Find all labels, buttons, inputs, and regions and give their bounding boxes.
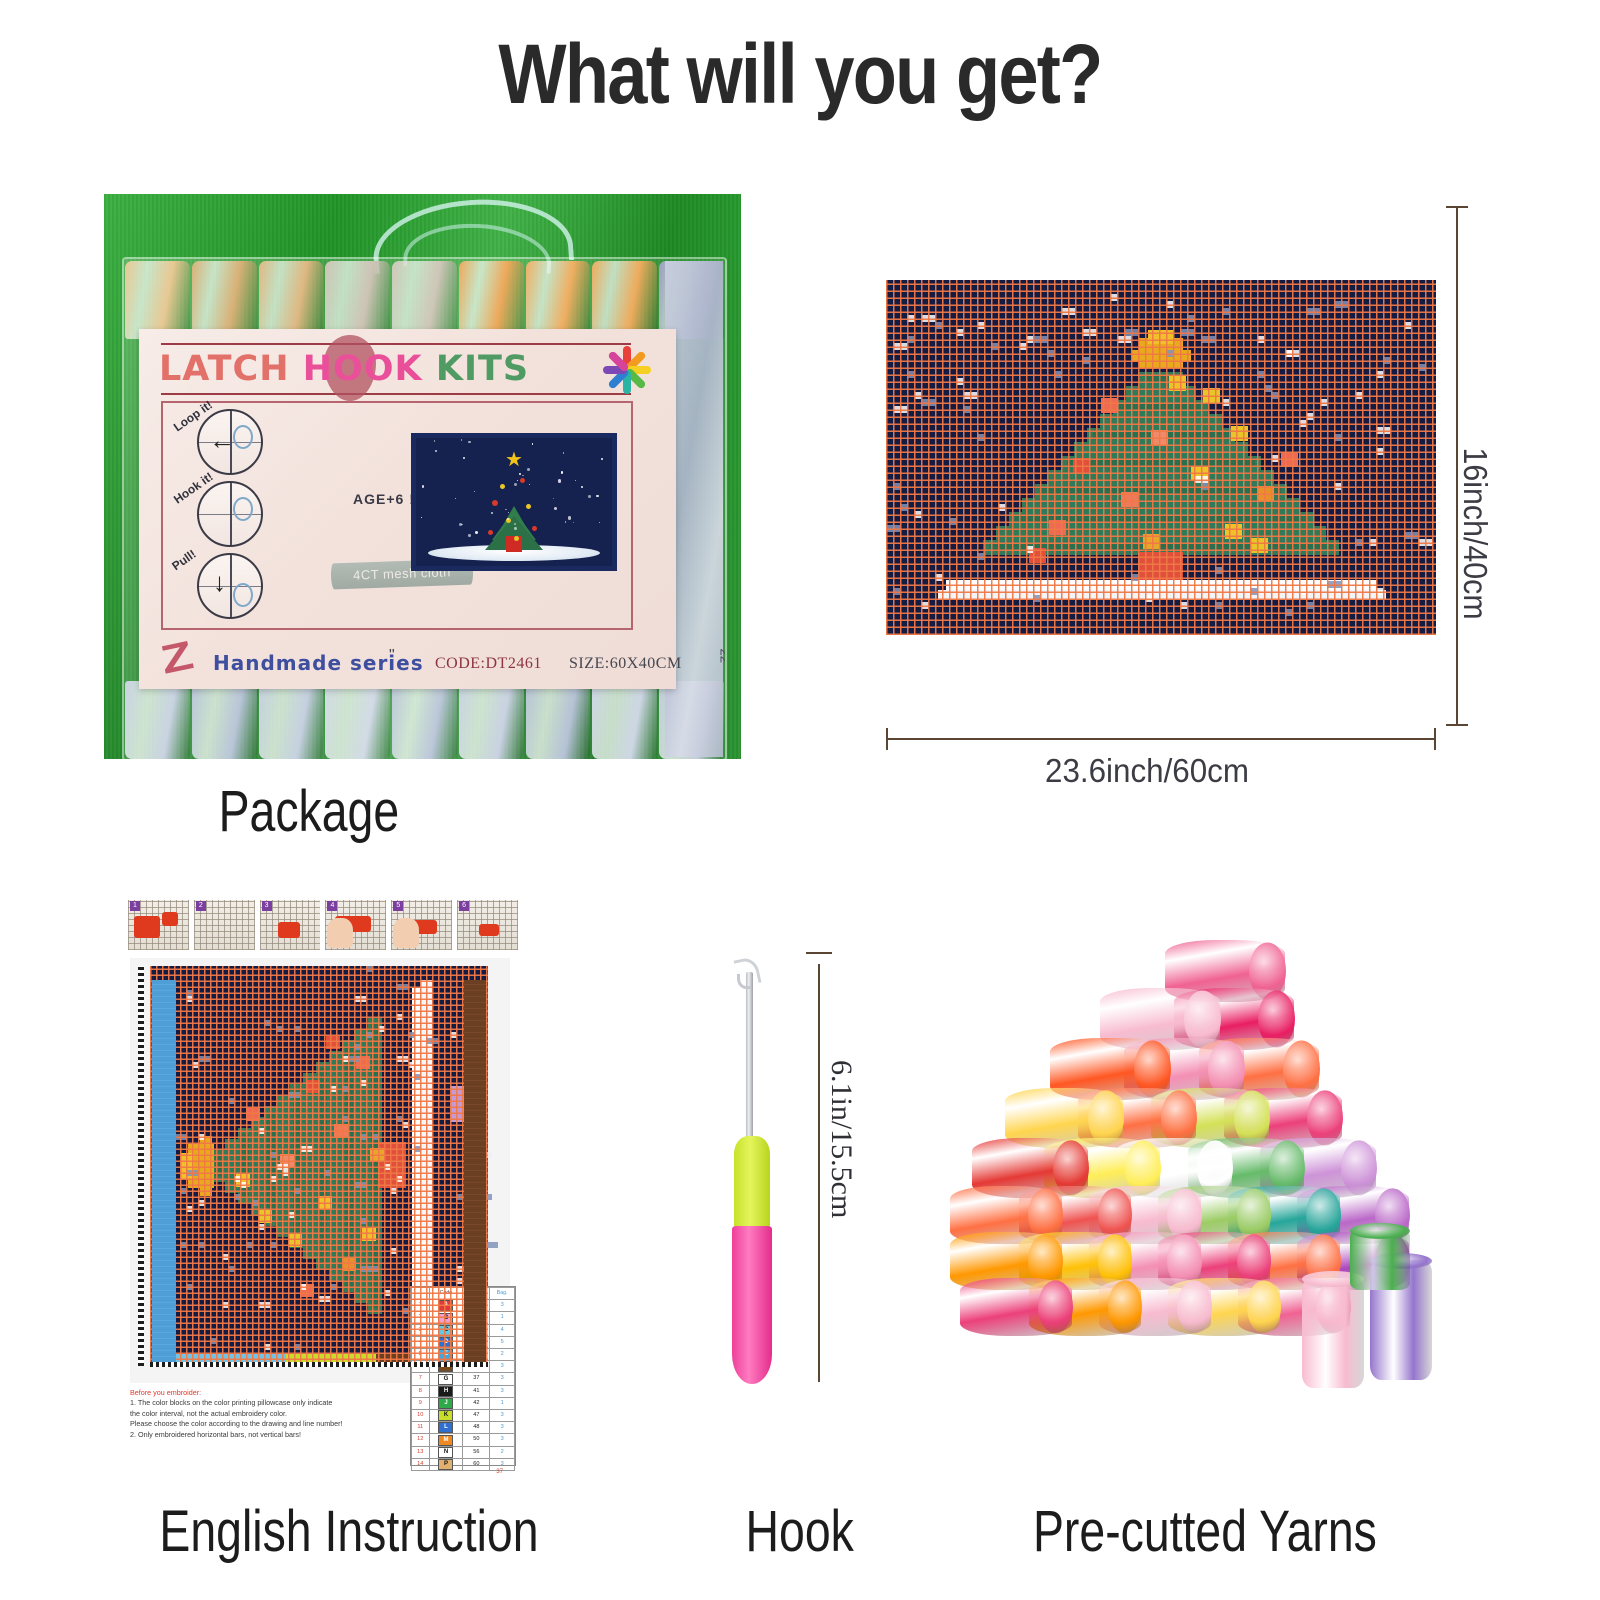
legend-row-no: 50	[463, 1434, 490, 1446]
chart-pixel	[200, 1136, 212, 1196]
legend-row-index: 2	[412, 1312, 430, 1324]
legend-row-code: A	[429, 1300, 463, 1312]
snow-dot	[588, 495, 591, 498]
plastic-bag: 22 LATCH HOOK KITS ←Loop it!Hook it!↓Pul…	[122, 257, 727, 759]
mesh-pixel	[1166, 350, 1173, 357]
mesh-pixel	[938, 590, 1386, 600]
mesh-pixel	[1082, 357, 1089, 364]
rug-preview-image: ★	[411, 433, 617, 571]
mesh-pixel	[977, 553, 984, 560]
yarn-loop-icon	[233, 497, 253, 521]
caption-precutted-yarns: Pre-cutted Yarns	[1033, 1498, 1377, 1565]
mesh-pixel	[991, 343, 998, 350]
snow-dot	[463, 457, 465, 459]
horizontal-dimension-line	[886, 738, 1436, 740]
legend-row-index: 5	[412, 1349, 430, 1361]
mesh-pixel	[1100, 414, 1222, 429]
mesh-pixel	[1257, 371, 1264, 378]
mesh-pixel	[1201, 483, 1208, 490]
mesh-pixel	[1231, 426, 1248, 441]
label-footer: Z Handmade series " CODE:DT2461 SIZE:60X…	[139, 639, 676, 679]
mesh-pixel	[1376, 427, 1390, 434]
chart-pixel	[241, 1134, 249, 1198]
step-thumbnail-4: 4	[325, 900, 386, 950]
mesh-pixel	[914, 511, 921, 518]
bundle-number: 22	[717, 649, 727, 663]
chart-pixel	[456, 1194, 462, 1200]
chart-pixel	[354, 1182, 366, 1188]
package-photo: 22 LATCH HOOK KITS ←Loop it!Hook it!↓Pul…	[104, 194, 741, 759]
tree-ornament	[526, 504, 531, 509]
chart-pixel	[234, 1194, 240, 1200]
snow-dot	[558, 479, 561, 482]
mesh-pixel	[1047, 350, 1054, 357]
mesh-pixel	[1215, 567, 1222, 574]
legend-row-no: 48	[463, 1422, 490, 1434]
chart-pixel	[198, 1200, 204, 1206]
width-dimension-label: 23.6inch/60cm	[874, 752, 1419, 790]
hook-needle-shaft	[746, 972, 753, 1140]
mesh-pixel	[1257, 486, 1274, 501]
legend-row-no: 60	[463, 1458, 490, 1470]
chart-pixel	[228, 1266, 234, 1272]
chart-pixel	[186, 1206, 192, 1212]
hook-tool-panel: 6.1in/15.5cm	[690, 950, 860, 1400]
chart-pixel	[198, 1056, 210, 1062]
tree-ornament	[500, 484, 505, 489]
legend-color-swatch: N	[438, 1447, 453, 1458]
mesh-pixel	[1355, 539, 1362, 546]
legend-color-swatch: M	[438, 1435, 453, 1446]
mesh-pixel	[1033, 595, 1040, 602]
mesh-pixel	[1187, 315, 1194, 322]
snow-dot	[568, 516, 571, 519]
chart-pixel	[176, 1354, 286, 1362]
chart-pixel	[294, 1188, 300, 1194]
chart-pixel	[288, 1234, 302, 1247]
snow-dot	[421, 517, 422, 518]
snow-dot	[599, 522, 600, 523]
chart-pixel	[355, 1029, 369, 1303]
vertical-dimension-cap-top	[1446, 206, 1468, 208]
step-diagram-1: ←	[197, 409, 263, 475]
step-thumbnail-6: 6	[457, 900, 518, 950]
legend-row-bag: 3	[490, 1385, 515, 1397]
chart-pixel	[362, 1228, 376, 1241]
chart-pixel	[258, 1224, 264, 1230]
mesh-pixel	[1285, 609, 1292, 616]
chart-pixel	[330, 1284, 336, 1290]
chart-pixel	[396, 1014, 402, 1020]
legend-row-bag: 3	[490, 1434, 515, 1446]
tree-ornament	[532, 526, 537, 531]
star-icon: ★	[505, 450, 523, 470]
mesh-pixel	[1131, 574, 1138, 581]
chart-pixel	[348, 1056, 360, 1062]
pinwheel-logo-icon	[598, 341, 656, 399]
mesh-pixel	[1169, 376, 1186, 391]
chart-pixel	[326, 1036, 340, 1049]
chart-pixel	[306, 1080, 320, 1093]
legend-row-no: 42	[463, 1397, 490, 1409]
package-label: LATCH HOOK KITS ←Loop it!Hook it!↓Pull! …	[139, 329, 676, 689]
hook-dimension-cap-top	[806, 952, 832, 954]
chart-pixel	[384, 1290, 390, 1296]
step-thumbnail-1: 1	[128, 900, 189, 950]
chart-pixel	[390, 1248, 396, 1254]
yarn-roll	[125, 261, 190, 339]
label-instruction-box: ←Loop it!Hook it!↓Pull! AGE+6 ! 4CT mesh…	[161, 401, 633, 630]
legend-row-bag: 3	[490, 1422, 515, 1434]
age-text: AGE+6 !	[353, 491, 415, 507]
mesh-pixel	[963, 406, 970, 413]
legend-row-code: M	[429, 1434, 463, 1446]
snow-dot	[581, 486, 584, 489]
mesh-pixel	[893, 343, 907, 350]
snow-dot	[601, 458, 603, 460]
chart-pixel	[293, 1090, 301, 1242]
chart-pixel	[426, 1038, 438, 1044]
brand-mark-icon: Z	[157, 633, 197, 684]
yarn-roll	[125, 681, 190, 759]
yarn-roll	[526, 681, 591, 759]
snow-dot	[468, 534, 471, 537]
legend-row-no: 37	[463, 1373, 490, 1385]
legend-row-bag: 1	[490, 1397, 515, 1409]
mesh-pixel	[1222, 399, 1229, 406]
mesh-pixel	[1306, 602, 1313, 609]
mesh-pixel	[1033, 336, 1047, 343]
mesh-pixel	[1264, 385, 1271, 392]
legend-row-bag: 2	[490, 1349, 515, 1361]
legend-row-code: L	[429, 1422, 463, 1434]
legend-row: 1A43	[412, 1300, 515, 1312]
mesh-pixel	[1257, 336, 1264, 343]
legend-color-swatch: H	[438, 1386, 453, 1397]
chart-brown-border-bar	[464, 980, 486, 1362]
chart-pixel	[372, 1266, 378, 1272]
horizontal-dimension-cap-right	[1434, 728, 1436, 750]
red-yarn	[278, 922, 300, 938]
mesh-pixel	[1334, 483, 1341, 490]
legend-row: 4D235	[412, 1336, 515, 1348]
mesh-pixel	[1376, 448, 1383, 455]
mesh-pixel	[1119, 403, 1203, 411]
yarn-bundle-face	[1108, 1280, 1143, 1333]
snow-dot	[596, 495, 599, 498]
chart-pixel	[370, 1148, 384, 1161]
red-yarn	[134, 916, 160, 938]
mesh-pixel	[893, 588, 900, 595]
legend-row-bag: 3	[490, 1361, 515, 1373]
legend-row-bag: 3	[490, 1410, 515, 1422]
caption-english-instruction: English Instruction	[159, 1498, 538, 1565]
chart-pixel	[360, 1266, 372, 1272]
snow-dot	[474, 491, 475, 492]
chart-pixel	[420, 1242, 432, 1248]
mesh-pixel	[1180, 602, 1187, 609]
mesh-pixel	[1299, 588, 1306, 595]
snow-dot	[514, 483, 517, 486]
mesh-pixel	[1145, 595, 1152, 602]
snow-dot	[468, 441, 470, 443]
chart-pixel	[450, 1086, 464, 1122]
mesh-pixel	[1110, 294, 1117, 301]
chart-pixel	[408, 1032, 414, 1038]
legend-row-no: 56	[463, 1446, 490, 1458]
chart-blue-border-bar	[152, 980, 176, 1362]
chart-pixel	[402, 1122, 408, 1128]
chart-pixel	[270, 1242, 276, 1248]
yarn-rolls-bottom	[124, 681, 725, 759]
mesh-pixel	[1299, 420, 1306, 427]
legend-row-index: 14	[412, 1458, 430, 1470]
chart-pixel	[258, 1128, 264, 1134]
mesh-pixel	[1041, 487, 1281, 495]
yarn-roll	[259, 681, 324, 759]
mesh-pixel	[1306, 308, 1320, 315]
chart-pixel	[252, 1200, 258, 1206]
step-diagram-column: ←Loop it!Hook it!↓Pull!	[177, 409, 263, 624]
chart-pixel	[396, 984, 408, 990]
legend-row-code: C	[429, 1324, 463, 1336]
snow-dot	[435, 450, 437, 452]
step-diagram-3: ↓	[197, 553, 263, 619]
chart-pixel	[294, 1344, 300, 1350]
legend-row-code: N	[429, 1446, 463, 1458]
yarn-roll	[192, 681, 257, 759]
legend-row: 2B191	[412, 1312, 515, 1324]
yarn-bundle-face	[1038, 1280, 1073, 1333]
mesh-pixel	[963, 392, 977, 399]
snow-dot	[522, 475, 523, 476]
legend-row-code: B	[429, 1312, 463, 1324]
mesh-canvas	[886, 280, 1436, 635]
legend-row-no: 47	[463, 1410, 490, 1422]
legend-row-code: H	[429, 1385, 463, 1397]
chart-pixel	[258, 1210, 272, 1223]
mesh-pixel	[977, 434, 984, 441]
chart-pixel	[342, 1116, 348, 1122]
snow-dot	[563, 452, 564, 453]
chart-pixel	[334, 1124, 348, 1137]
legend-row-bag: 5	[490, 1336, 515, 1348]
chart-pixel	[414, 1074, 420, 1080]
chart-pixel	[354, 1044, 360, 1050]
chart-pixel	[270, 1152, 276, 1158]
mesh-pixel	[1369, 539, 1376, 546]
thumbnail-number-badge: 1	[130, 901, 140, 911]
step-thumbnail-strip: 123456	[128, 900, 518, 950]
yarn-roll	[192, 261, 257, 339]
label-title-word-3: KITS	[436, 349, 529, 389]
hook-lower-handle	[732, 1226, 772, 1384]
mesh-pixel	[977, 322, 984, 329]
mesh-pixel	[1073, 458, 1090, 473]
thumbnail-number-badge: 5	[393, 901, 403, 911]
chart-pixel	[240, 1182, 246, 1188]
mesh-pixel	[1383, 357, 1390, 364]
mesh-pixel	[998, 504, 1005, 511]
mesh-pixel	[914, 392, 921, 399]
chart-pixel	[372, 1134, 378, 1140]
mesh-pixel	[893, 483, 900, 490]
chart-pixel	[270, 1176, 276, 1182]
mesh-pixel	[1049, 520, 1066, 535]
mesh-pixel	[907, 371, 914, 378]
mesh-pixel	[935, 322, 942, 329]
mesh-pixel	[907, 336, 914, 343]
snow-dot	[517, 480, 518, 481]
precut-yarns-photo	[950, 930, 1480, 1410]
mesh-pixel	[1251, 538, 1268, 553]
height-dimension-label: 16inch/40cm	[1456, 447, 1494, 619]
product-size: SIZE:60X40CM	[569, 655, 682, 673]
yarn-roll	[325, 681, 390, 759]
legend-row-bag: 3	[490, 1373, 515, 1385]
mesh-pixel	[1061, 308, 1075, 315]
yarn-bundle-upright	[1302, 1278, 1364, 1388]
legend-col-index	[412, 1288, 430, 1300]
mesh-pixel	[1215, 602, 1222, 609]
legend-color-swatch: G	[438, 1374, 453, 1385]
chart-pixel	[486, 1194, 492, 1200]
chart-pixel	[267, 1112, 275, 1220]
mesh-pixel	[1082, 329, 1096, 336]
yarn-roll	[592, 681, 657, 759]
chart-pixel	[318, 1196, 332, 1209]
snow-dot	[553, 498, 554, 499]
legend-color-swatch: D	[438, 1337, 453, 1348]
chart-pixel	[360, 1218, 366, 1224]
mesh-pixel	[1285, 350, 1292, 357]
snow-dot	[475, 531, 478, 534]
chart-pixel	[408, 1062, 420, 1068]
snow-dot	[519, 473, 521, 475]
mesh-pixel	[1250, 588, 1257, 595]
chart-pixel	[342, 1258, 356, 1271]
snow-dot	[529, 484, 530, 485]
snow-dot	[573, 522, 574, 523]
caption-package: Package	[219, 778, 400, 845]
legend-row: 7G373	[412, 1373, 515, 1385]
legend-row: 5E242	[412, 1349, 515, 1361]
step-diagram-2	[197, 481, 263, 547]
mesh-pixel	[935, 574, 942, 581]
mesh-pixel	[1054, 371, 1061, 378]
note-line-4: 2. Only embroidered horizontal bars, not…	[130, 1430, 430, 1440]
chart-pixel	[396, 1176, 402, 1182]
yarn-bundle	[960, 1278, 1072, 1336]
label-title: LATCH HOOK KITS	[159, 349, 529, 389]
chart-pixel	[288, 1092, 300, 1098]
mesh-pixel	[900, 504, 907, 511]
mesh-pixel	[1194, 476, 1208, 483]
legend-color-swatch: A	[438, 1300, 453, 1311]
chart-pixel	[180, 1188, 186, 1194]
mesh-pixel	[1334, 434, 1341, 441]
chart-pixel	[264, 1020, 270, 1026]
mesh-pixel	[1306, 413, 1313, 420]
yarn-roll	[259, 261, 324, 339]
hook-length-label: 6.1in/15.5cm	[824, 1060, 858, 1218]
tree-ornament	[514, 536, 519, 541]
chart-pixel	[215, 1156, 223, 1176]
chart-pixel	[360, 1080, 366, 1086]
legend-row: 3C224	[412, 1324, 515, 1336]
legend-row-code: K	[429, 1410, 463, 1422]
mesh-pixel	[1281, 452, 1298, 467]
mesh-pixel	[1019, 343, 1026, 350]
hook-dimension-line	[818, 964, 820, 1382]
snow-dot	[514, 523, 516, 525]
snow-dot	[434, 440, 436, 442]
mesh-pixel	[1404, 532, 1418, 539]
mesh-pixel	[907, 315, 914, 322]
mesh-pixel	[1271, 392, 1278, 399]
yarn-roll	[592, 261, 657, 339]
legend-row-bag: 1	[490, 1312, 515, 1324]
chart-pixel	[300, 1146, 312, 1152]
mesh-pixel	[1180, 329, 1194, 336]
chart-pixel	[258, 1302, 270, 1308]
chart-pixel	[345, 1046, 353, 1286]
mesh-pixel	[1418, 539, 1432, 546]
chart-pixel	[294, 1026, 300, 1032]
chart-pixel	[286, 1354, 376, 1362]
legend-color-swatch: J	[438, 1398, 453, 1409]
mesh-pixel	[893, 406, 907, 413]
mesh-pixel	[1067, 459, 1255, 467]
legend-row-index: 7	[412, 1373, 430, 1385]
mesh-pixel	[1166, 301, 1173, 308]
yarn-roll	[459, 681, 524, 759]
chart-pixel	[192, 1062, 198, 1068]
step-thumbnail-2: 2	[194, 900, 255, 950]
chart-pixel	[186, 1170, 198, 1176]
snow-dot	[565, 521, 567, 523]
chart-pixel	[450, 1032, 456, 1038]
yarn-roll	[325, 261, 390, 339]
mesh-pixel	[1143, 534, 1160, 549]
chart-pixel	[390, 1188, 396, 1194]
legend-table: Code No. Bag. 1A432B1913C2244D2355E2426F…	[411, 1287, 515, 1471]
legend-row-index: 4	[412, 1336, 430, 1348]
label-title-word-1: LATCH	[159, 349, 290, 389]
chart-pixel	[264, 1344, 270, 1350]
mesh-pixel	[1418, 364, 1425, 371]
step-label-3: Pull!	[169, 547, 198, 573]
legend-row-bag: 4	[490, 1324, 515, 1336]
mesh-pixel	[1271, 455, 1278, 462]
mesh-pixel	[1121, 492, 1138, 507]
mesh-pixel	[949, 518, 956, 525]
mesh-pixel	[921, 399, 935, 406]
snow-dot	[461, 439, 462, 440]
direction-arrow-icon: ←	[209, 427, 235, 453]
mesh-pixel	[1355, 392, 1362, 399]
thumbnail-number-badge: 6	[459, 901, 469, 911]
legend-col-bag: Bag.	[490, 1288, 515, 1300]
mesh-pixel	[921, 315, 935, 322]
chart-pixel	[354, 996, 366, 1002]
chart-pixel	[384, 1164, 390, 1170]
thumbnail-number-badge: 4	[327, 901, 337, 911]
mesh-pixel	[1117, 336, 1131, 343]
chart-pixel	[486, 1242, 498, 1248]
chart-tick-ruler-left	[138, 966, 144, 1366]
mesh-pixel	[1026, 546, 1033, 553]
